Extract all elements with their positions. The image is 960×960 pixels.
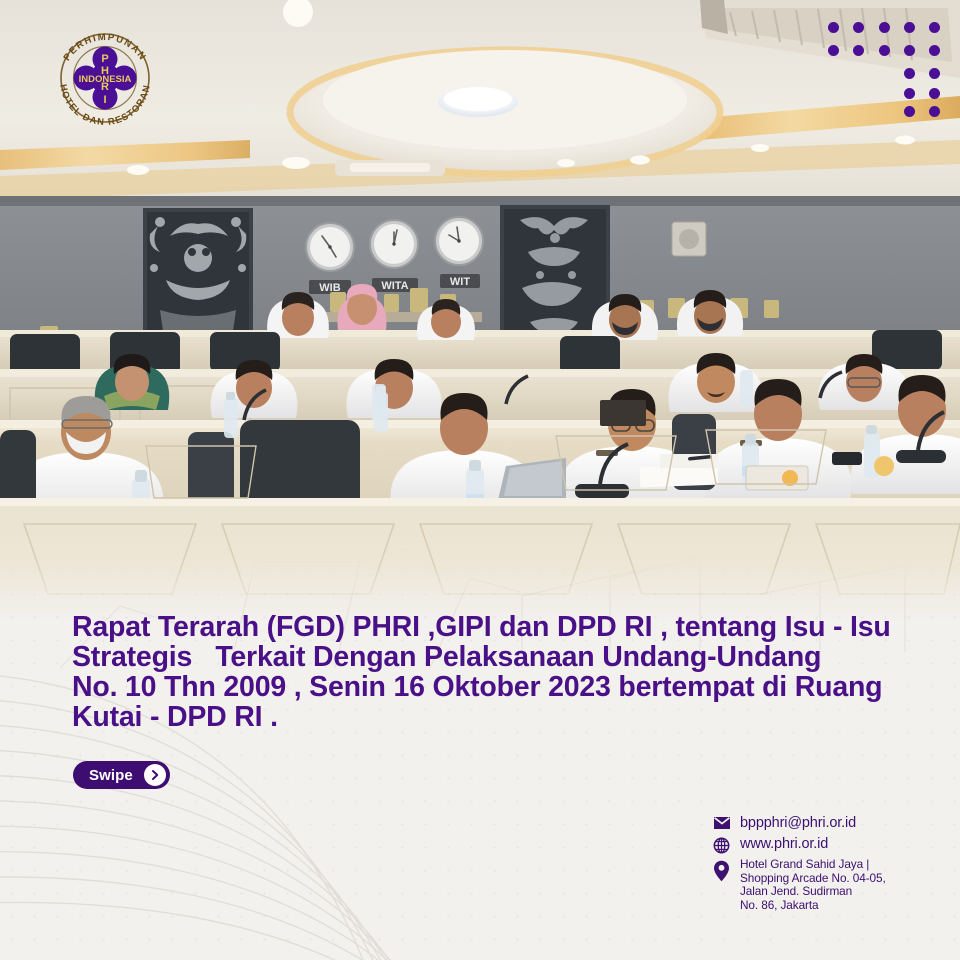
phri-logo: PERHIMPUNAN HOTEL DAN RESTORAN P H R I I…	[45, 18, 165, 138]
swipe-button[interactable]: Swipe	[73, 761, 170, 789]
contact-address-text: Hotel Grand Sahid Jaya | Shopping Arcade…	[740, 858, 886, 912]
envelope-icon	[712, 815, 731, 830]
svg-text:WITA: WITA	[381, 280, 408, 292]
contact-address-row: Hotel Grand Sahid Jaya | Shopping Arcade…	[712, 858, 936, 912]
address-line-2: Shopping Arcade No. 04-05,	[740, 872, 886, 886]
contact-block: bppphri@phri.or.id www.phri.or.id	[712, 815, 936, 916]
event-headline: Rapat Terarah (FGD) PHRI ,GIPI dan DPD R…	[72, 612, 902, 732]
svg-text:P: P	[101, 53, 108, 65]
map-pin-icon	[712, 858, 731, 882]
dot-grid-motif	[828, 22, 940, 116]
contact-website-text: www.phri.or.id	[740, 836, 828, 853]
headline-line-2: Strategis Terkait Dengan Pelaksanaan Und…	[72, 642, 902, 672]
contact-website-row[interactable]: www.phri.or.id	[712, 836, 936, 854]
contact-email-text: bppphri@phri.or.id	[740, 815, 856, 832]
address-line-4: No. 86, Jakarta	[740, 899, 886, 913]
headline-line-3: No. 10 Thn 2009 , Senin 16 Oktober 2023 …	[72, 672, 902, 702]
headline-line-4: Kutai - DPD RI .	[72, 702, 902, 732]
headline-line-1: Rapat Terarah (FGD) PHRI ,GIPI dan DPD R…	[72, 612, 902, 642]
poster-canvas: WIB WITA	[0, 0, 960, 960]
globe-icon	[712, 836, 731, 854]
address-line-1: Hotel Grand Sahid Jaya |	[740, 858, 886, 872]
swipe-label: Swipe	[89, 767, 133, 784]
svg-text:I: I	[103, 94, 106, 106]
address-line-3: Jalan Jend. Sudirman	[740, 885, 886, 899]
svg-text:WIT: WIT	[450, 276, 470, 288]
contact-email-row[interactable]: bppphri@phri.or.id	[712, 815, 936, 832]
svg-text:INDONESIA: INDONESIA	[79, 74, 132, 85]
chevron-right-icon	[144, 764, 166, 786]
